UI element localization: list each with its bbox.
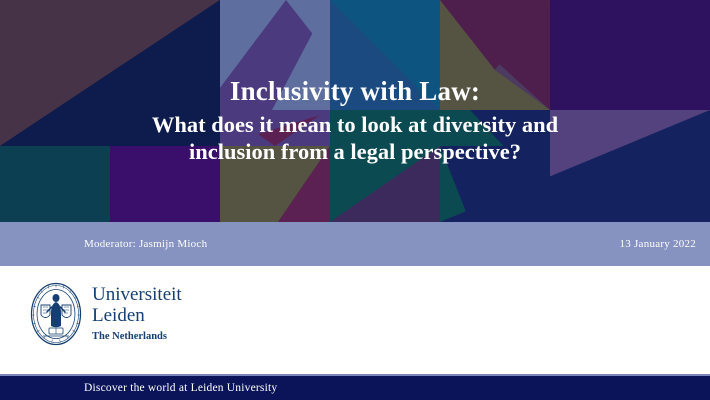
leiden-university-seal-icon (30, 282, 82, 346)
logo-line-leiden: Leiden (92, 305, 182, 326)
logo-area: Universiteit Leiden The Netherlands (0, 266, 710, 376)
page-subtitle: What does it mean to look at diversity a… (152, 111, 558, 165)
presentation-slide: Inclusivity with Law: What does it mean … (0, 0, 710, 400)
logo-line-country: The Netherlands (92, 329, 182, 344)
footer-tagline: Discover the world at Leiden University (84, 382, 277, 394)
logo-line-universiteit: Universiteit (92, 284, 182, 305)
hero-title-block: Inclusivity with Law: What does it mean … (0, 0, 710, 222)
date-label: 13 January 2022 (620, 238, 696, 250)
footer-bar: Discover the world at Leiden University (0, 376, 710, 400)
leiden-university-logo: Universiteit Leiden The Netherlands (30, 282, 182, 346)
logo-wordmark: Universiteit Leiden The Netherlands (92, 284, 182, 344)
moderator-date-band: Moderator: Jasmijn Mioch 13 January 2022 (0, 222, 710, 266)
hero-banner: Inclusivity with Law: What does it mean … (0, 0, 710, 222)
page-subtitle-line-2: inclusion from a legal perspective? (152, 138, 558, 165)
page-title: Inclusivity with Law: (230, 76, 480, 107)
page-subtitle-line-1: What does it mean to look at diversity a… (152, 111, 558, 138)
moderator-label: Moderator: Jasmijn Mioch (84, 238, 207, 250)
